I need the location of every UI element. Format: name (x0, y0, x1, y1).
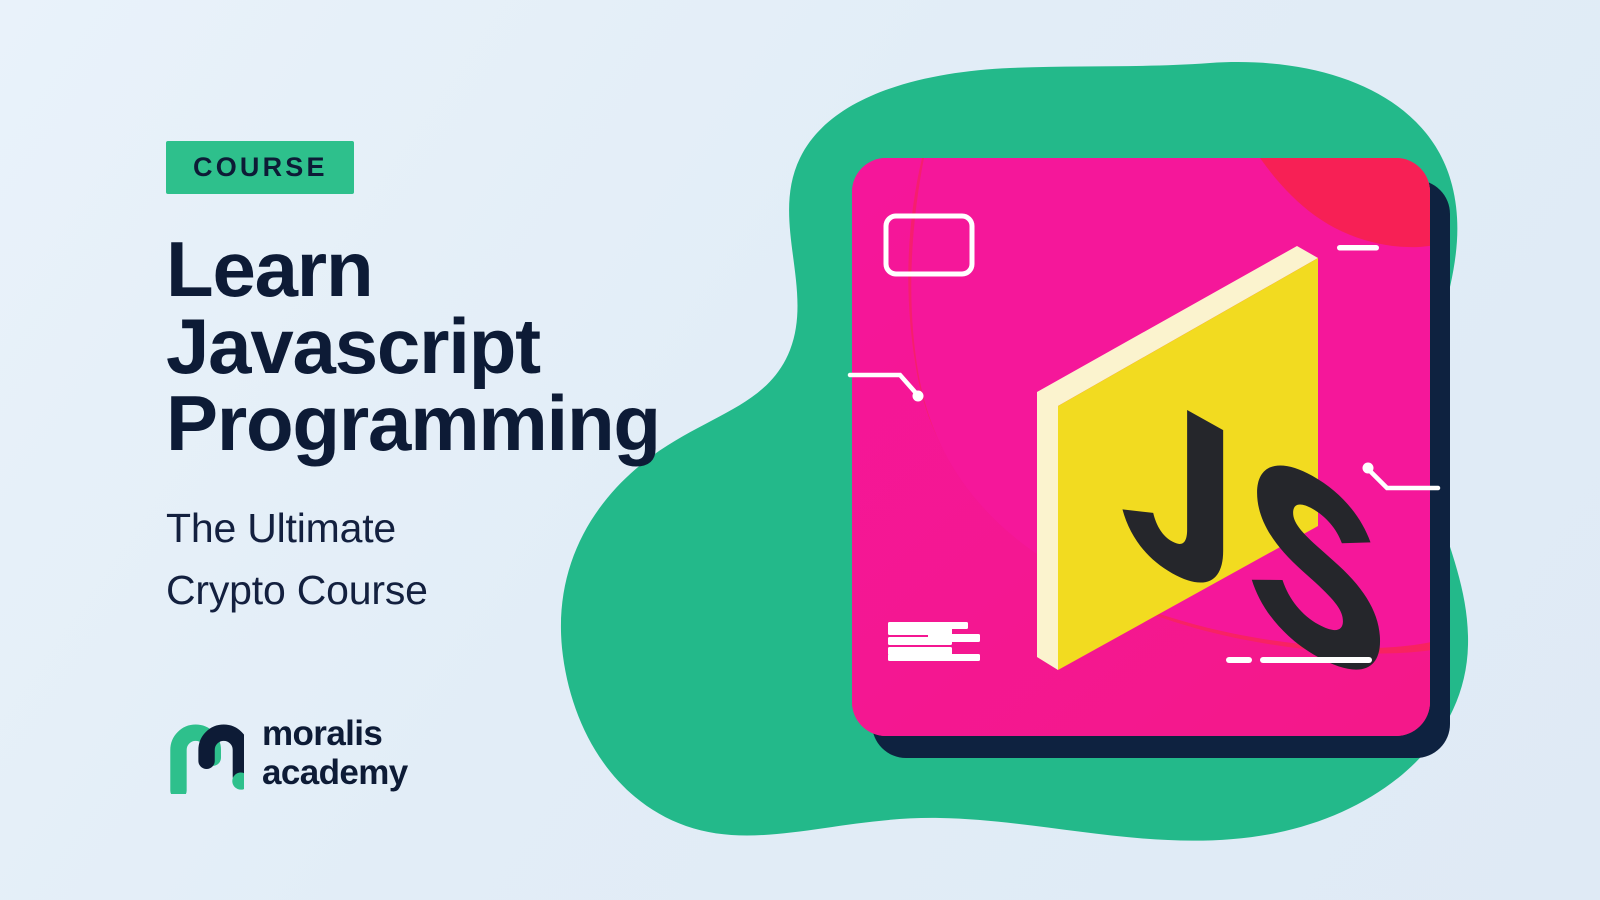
headline-line-3: Programming (166, 385, 766, 462)
headline-line-2: Javascript (166, 308, 766, 385)
javascript-card-svg (700, 30, 1600, 880)
course-badge: COURSE (166, 141, 354, 194)
logo-word-line-1: moralis (262, 714, 408, 753)
page-title: Learn Javascript Programming (166, 231, 766, 463)
moralis-academy-logo[interactable]: moralis academy (166, 712, 408, 794)
logo-navy-arch (207, 733, 241, 777)
text-column: COURSE Learn Javascript Programming The … (166, 141, 766, 621)
short-dash-top-right-icon (1337, 245, 1379, 251)
page-subtitle: The Ultimate Crypto Course (166, 497, 766, 622)
logo-word-line-2: academy (262, 753, 408, 792)
subhead-line-2: Crypto Course (166, 559, 766, 621)
headline-line-1: Learn (166, 231, 766, 308)
moralis-m-mark-icon (166, 712, 244, 794)
stacked-bars-glyph-icon (888, 622, 980, 661)
javascript-illustration (700, 30, 1600, 880)
course-banner: COURSE Learn Javascript Programming The … (0, 0, 1600, 900)
subhead-line-1: The Ultimate (166, 497, 766, 559)
dash-pair-bottom-right-icon (1226, 657, 1372, 663)
logo-wordmark: moralis academy (262, 714, 408, 792)
